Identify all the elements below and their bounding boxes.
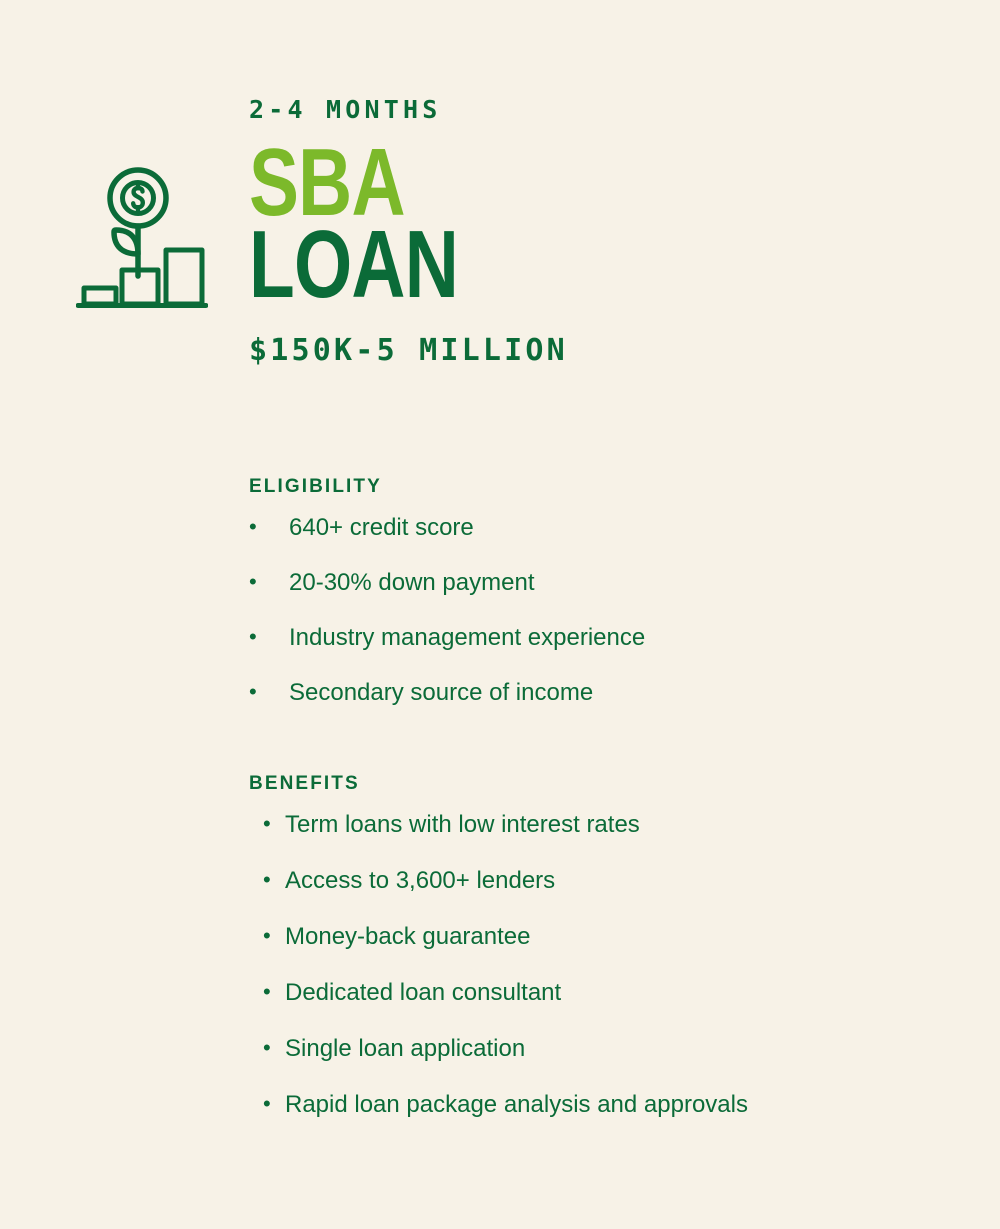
list-item: • Industry management experience [249,622,949,654]
bullet-icon: • [263,1033,285,1065]
list-item: • 640+ credit score [249,512,949,544]
list-item-label: Access to 3,600+ lenders [285,865,949,897]
list-item-label: Term loans with low interest rates [285,809,949,841]
bullet-icon: • [263,865,285,897]
bullet-icon: • [249,622,289,654]
list-item-label: Single loan application [285,1033,949,1065]
list-item-label: 640+ credit score [289,512,949,544]
bullet-icon: • [249,567,289,599]
list-item-label: Dedicated loan consultant [285,977,949,1009]
loan-amount-range: $150K-5 MILLION [249,333,949,368]
list-item-label: Money-back guarantee [285,921,949,953]
benefits-list: • Term loans with low interest rates • A… [249,809,949,1120]
list-item: • Term loans with low interest rates [263,809,949,841]
list-item-label: Industry management experience [289,622,949,654]
benefits-section: BENEFITS • Term loans with low interest … [249,773,949,1144]
eligibility-list: • 640+ credit score • 20-30% down paymen… [249,512,949,709]
list-item: • 20-30% down payment [249,567,949,599]
page-title-line-2: LOAN [249,224,795,307]
list-item: • Single loan application [263,1033,949,1065]
eligibility-heading: ELIGIBILITY [249,476,949,498]
list-item: • Secondary source of income [249,677,949,709]
sba-loan-infographic-card: 2-4 MONTHS SBA LOAN $150K-5 MILLION ELIG… [0,0,1000,1229]
list-item: • Access to 3,600+ lenders [263,865,949,897]
list-item: • Money-back guarantee [263,921,949,953]
list-item-label: Secondary source of income [289,677,949,709]
header-block: 2-4 MONTHS SBA LOAN $150K-5 MILLION [249,96,949,368]
bullet-icon: • [263,921,285,953]
list-item-label: Rapid loan package analysis and approval… [285,1089,949,1121]
bullet-icon: • [263,1089,285,1121]
bullet-icon: • [263,977,285,1009]
list-item: • Dedicated loan consultant [263,977,949,1009]
list-item: • Rapid loan package analysis and approv… [263,1089,949,1121]
benefits-heading: BENEFITS [249,773,949,795]
loan-duration: 2-4 MONTHS [249,96,949,124]
page-title: SBA LOAN [249,142,795,307]
bullet-icon: • [249,677,289,709]
eligibility-section: ELIGIBILITY • 640+ credit score • 20-30%… [249,476,949,732]
money-plant-growth-icon [76,166,208,311]
list-item-label: 20-30% down payment [289,567,949,599]
bullet-icon: • [249,512,289,544]
bullet-icon: • [263,809,285,841]
